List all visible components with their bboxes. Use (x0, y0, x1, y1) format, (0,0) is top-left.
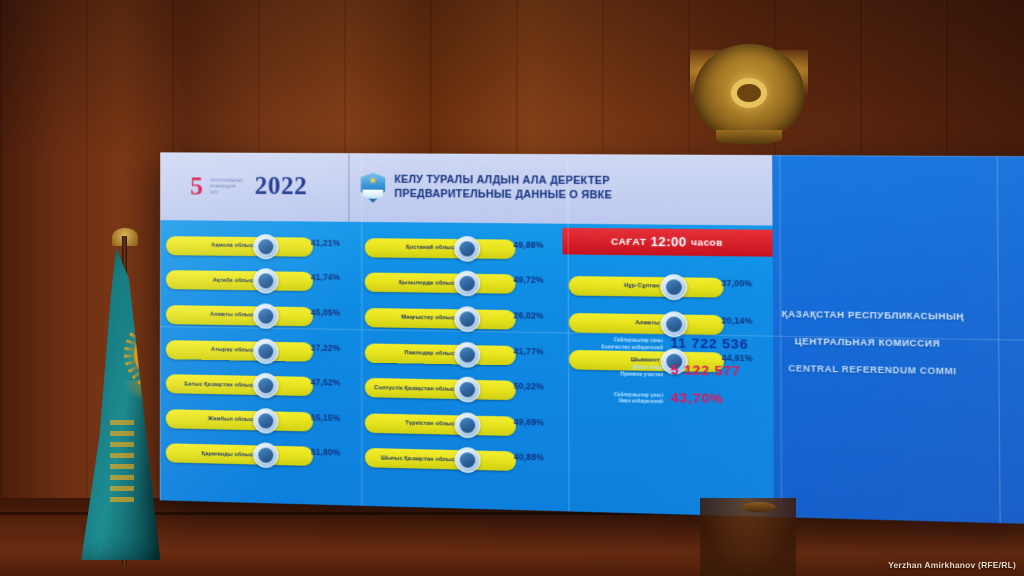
region-name: Ақмола облысы (175, 242, 258, 249)
slide-title-ru: ПРЕДВАРИТЕЛЬНЫЕ ДАННЫЕ О ЯВКЕ (394, 188, 612, 202)
slide-title-text: КЕЛУ ТУРАЛЫ АЛДЫН АЛА ДЕРЕКТЕР ПРЕДВАРИТ… (394, 174, 612, 202)
region-row: Ақмола облысы41,21% (166, 228, 352, 265)
region-name: Қостанай облысы (374, 245, 459, 252)
region-turnout-pct: 47,52% (311, 379, 358, 388)
summary-label-ru: Количество избирателей (569, 343, 663, 350)
region-emblem-icon (253, 234, 278, 259)
region-row: Түркістан облысы49,69% (365, 405, 557, 445)
region-name: Қарағанды облысы (175, 450, 258, 458)
region-emblem-icon (253, 303, 278, 329)
logo-subtext: РЕСПУБЛИКАЛЫҚ РЕФЕРЕНДУМ 2022 (210, 178, 243, 195)
slide-title-kk: КЕЛУ ТУРАЛЫ АЛДЫН АЛА ДЕРЕКТЕР (394, 174, 612, 188)
region-name: Солтүстік Қазақстан облысы (374, 385, 460, 393)
commission-title-text: ҚАЗАҚСТАН РЕСПУБЛИКАСЫНЫҢ ЦЕНТРАЛЬНАЯ КО… (782, 309, 1024, 378)
logo-subtext-line-1: РЕСПУБЛИКАЛЫҚ (210, 178, 243, 182)
summary-label-ru: Приняли участие (569, 370, 663, 378)
region-row: Ақтөбе облысы41,74% (166, 263, 353, 300)
video-wall-display: ҚАЗАҚСТАН РЕСПУБЛИКАСЫНЫҢ ЦЕНТРАЛЬНАЯ КО… (160, 152, 1024, 524)
city-emblem-icon (661, 274, 688, 300)
region-emblem-icon (253, 338, 278, 364)
referendum-logo: 5 РЕСПУБЛИКАЛЫҚ РЕФЕРЕНДУМ 2022 2022 (160, 152, 349, 221)
logo-year: 2022 (255, 173, 308, 201)
summary-value-total-voters: 11 722 536 (670, 336, 748, 351)
emblem-shanyrak-icon (731, 78, 767, 108)
city-row: Нұр-Сұлтан қ.37,00% (569, 267, 766, 307)
summary-label: Сайлаушылар саны Количество избирателей (569, 335, 670, 351)
region-name: Алматы облысы (175, 312, 258, 319)
summary-row-total-voters: Сайлаушылар саны Количество избирателей … (569, 335, 765, 353)
region-emblem-icon (454, 412, 480, 438)
region-name: Маңғыстау облысы (374, 315, 459, 323)
region-turnout-pct: 50,22% (514, 383, 562, 392)
photo-scene: ҚАЗАҚСТАН РЕСПУБЛИКАСЫНЫҢ ЦЕНТРАЛЬНАЯ КО… (0, 0, 1024, 576)
region-emblem-icon (455, 447, 481, 473)
logo-mark: 5 (190, 173, 203, 199)
region-turnout-pct: 45,05% (311, 309, 358, 318)
crest-wave (363, 190, 383, 199)
region-emblem-icon (454, 271, 480, 297)
photo-credit: Yerzhan Amirkhanov (RFE/RL) (888, 560, 1016, 570)
region-emblem-icon (253, 269, 278, 294)
region-turnout-pct: 55,15% (311, 414, 358, 423)
region-row: Алматы облысы45,05% (166, 297, 353, 335)
region-row: Солтүстік Қазақстан облысы50,22% (365, 370, 557, 409)
summary-row-participated: Дауыс берді Приняли участие 5 122 577 (569, 361, 765, 379)
emblem-base (716, 130, 782, 144)
region-emblem-icon (454, 306, 480, 332)
region-turnout-pct: 51,80% (311, 449, 358, 458)
logo-subtext-line-2: РЕФЕРЕНДУМ (210, 184, 243, 188)
region-emblem-icon (454, 341, 480, 367)
region-turnout-pct: 41,77% (514, 348, 562, 357)
region-turnout-pct: 37,22% (311, 344, 358, 353)
region-turnout-pct: 41,74% (311, 274, 358, 283)
turnout-summary: Сайлаушылар саны Количество избирателей … (567, 330, 772, 446)
region-name: Атырау облысы (175, 346, 258, 354)
region-row: Қостанай облысы49,88% (365, 230, 556, 267)
region-column-left: Ақмола облысы41,21% Ақтөбе облысы41,74% … (160, 224, 359, 506)
summary-value-turnout-pct: 43,70% (671, 390, 724, 405)
slide-header: 5 РЕСПУБЛИКАЛЫҚ РЕФЕРЕНДУМ 2022 2022 (160, 152, 772, 225)
region-emblem-icon (253, 443, 278, 469)
region-emblem-icon (253, 408, 278, 434)
region-turnout-pct: 49,72% (513, 277, 561, 286)
region-row: Шығыс Қазақстан облысы40,88% (365, 440, 557, 480)
region-column-middle: Қостанай облысы49,88% Қызылорда облысы49… (359, 226, 564, 511)
region-turnout-pct: 49,69% (514, 418, 562, 427)
slide-title-block: КЕЛУ ТУРАЛЫ АЛДЫН АЛА ДЕРЕКТЕР ПРЕДВАРИТ… (349, 153, 772, 225)
flag-ornament-band (110, 420, 134, 504)
region-turnout-pct: 40,88% (514, 454, 562, 464)
summary-label-ru: Явка избирателей (569, 397, 663, 405)
summary-row-turnout-pct: Сайлаушылар үлесі Явка избирателей 43,70… (569, 388, 765, 407)
commission-title-kk: ҚАЗАҚСТАН РЕСПУБЛИКАСЫНЫҢ (782, 309, 1024, 323)
city-turnout-pct: 37,00% (721, 279, 770, 288)
region-name: Қызылорда облысы (374, 280, 459, 287)
region-row: Павлодар облысы41,77% (365, 335, 557, 374)
region-name: Батыс Қазақстан облысы (175, 381, 258, 389)
region-row: Жамбыл облысы55,15% (166, 401, 353, 440)
turnout-data-slide: 5 РЕСПУБЛИКАЛЫҚ РЕФЕРЕНДУМ 2022 2022 (160, 152, 774, 517)
summary-label: Сайлаушылар үлесі Явка избирателей (569, 388, 671, 405)
region-turnout-pct: 41,21% (311, 239, 358, 248)
summary-value-participated: 5 122 577 (671, 363, 741, 378)
commission-title-ru: ЦЕНТРАЛЬНАЯ КОМИССИЯ (782, 336, 1024, 351)
city-turnout-pct: 20,14% (721, 317, 770, 326)
region-name: Шығыс Қазақстан облысы (374, 455, 460, 463)
region-row: Қарағанды облысы51,80% (166, 436, 353, 475)
region-emblem-icon (253, 373, 278, 399)
region-turnout-pct: 26,02% (513, 312, 561, 321)
region-name: Ақтөбе облысы (175, 277, 258, 284)
podium-microphone-icon (742, 502, 776, 512)
city-name: Алматы қ. (578, 319, 666, 327)
region-row: Маңғыстау облысы26,02% (365, 300, 557, 338)
logo-subtext-line-3: 2022 (210, 191, 243, 195)
summary-label: Дауыс берді Приняли участие (569, 361, 671, 378)
city-name: Нұр-Сұлтан қ. (578, 282, 666, 289)
region-turnout-pct: 49,88% (513, 241, 561, 250)
region-emblem-icon (454, 236, 480, 262)
region-name: Жамбыл облысы (175, 416, 258, 424)
region-emblem-icon (454, 377, 480, 403)
kazakhstan-coat-of-arms-emblem (690, 38, 808, 150)
region-name: Павлодар облысы (374, 350, 459, 358)
region-row: Қызылорда облысы49,72% (365, 265, 556, 303)
commission-crest-icon (361, 172, 386, 202)
region-row: Батыс Қазақстан облысы47,52% (166, 366, 353, 405)
region-name: Түркістан облысы (374, 420, 460, 428)
wall-upper-shadow (0, 0, 1024, 160)
region-row: Атырау облысы37,22% (166, 332, 353, 370)
